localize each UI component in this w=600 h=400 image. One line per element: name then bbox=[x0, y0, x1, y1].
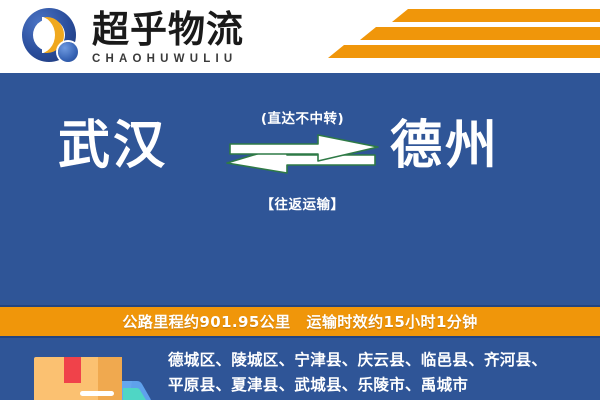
header: 超乎物流 CHAOHUWULIU bbox=[0, 0, 600, 73]
distance-label: 公路里程约901.95公里 bbox=[122, 311, 290, 332]
info-bar: 公路里程约901.95公里 运输时效约15小时1分钟 bbox=[0, 305, 600, 338]
delivery-truck-icon bbox=[26, 351, 156, 400]
body-panel: 武汉 (直达不中转) 【往返运输】 德州 公路里程约901.95公里 运输时效约… bbox=[0, 73, 600, 400]
origin-city: 武汉 bbox=[58, 115, 168, 177]
round-trip-note: 【往返运输】 bbox=[225, 193, 380, 213]
poster-root: 超乎物流 CHAOHUWULIU 武汉 (直达不中转) 【往返运输 bbox=[0, 0, 600, 400]
coverage-list: 德城区、陵城区、宁津县、庆云县、临邑县、齐河县、 平原县、夏津县、武城县、乐陵市… bbox=[168, 348, 580, 398]
double-headed-arrow-icon bbox=[225, 133, 380, 177]
stripe-3 bbox=[328, 45, 600, 58]
direct-route-note: (直达不中转) bbox=[225, 107, 380, 127]
brand-text: 超乎物流 CHAOHUWULIU bbox=[92, 9, 244, 66]
header-stripes bbox=[310, 9, 600, 65]
route-middle: (直达不中转) 【往返运输】 bbox=[225, 107, 380, 217]
route-section: 武汉 (直达不中转) 【往返运输】 德州 bbox=[0, 73, 600, 232]
destination-city: 德州 bbox=[390, 115, 500, 177]
duration-label: 运输时效约15小时1分钟 bbox=[306, 311, 477, 332]
coverage-line: 平原县、夏津县、武城县、乐陵市、禹城市 bbox=[168, 373, 580, 398]
brand-logo[interactable]: 超乎物流 CHAOHUWULIU bbox=[20, 6, 244, 68]
logo-dot bbox=[58, 42, 78, 62]
circle-crescent-logo-icon bbox=[20, 6, 82, 68]
brand-name-en: CHAOHUWULIU bbox=[92, 52, 244, 66]
coverage-line: 德城区、陵城区、宁津县、庆云县、临邑县、齐河县、 bbox=[168, 348, 580, 373]
stripe-1 bbox=[392, 9, 600, 22]
stripe-2 bbox=[360, 27, 600, 40]
brand-name-cn: 超乎物流 bbox=[92, 9, 244, 51]
